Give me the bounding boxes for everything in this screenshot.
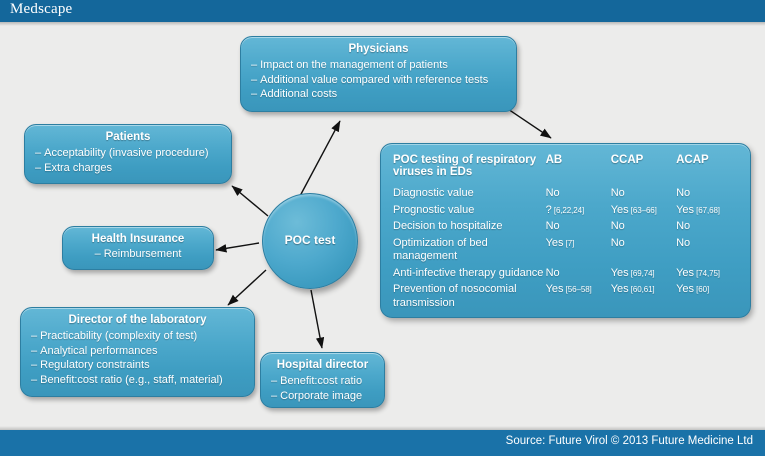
list-item: –Reimbursement <box>73 247 203 262</box>
table-cell-reference: [74,75] <box>694 269 720 278</box>
table-cell-value: Yes <box>676 283 694 295</box>
arrow-poc-to-patients <box>232 186 268 216</box>
poc-testing-table: POC testing of respiratory viruses in ED… <box>393 154 738 313</box>
list-item: –Analytical performances <box>31 344 244 359</box>
list-item: –Corporate image <box>271 389 374 404</box>
table-cell-reference: [67,68] <box>694 206 720 215</box>
table-cell: No <box>546 267 611 284</box>
table-row-label: Anti-infective therapy guidance <box>393 267 546 284</box>
source-footer-bar: Source: Future Virol © 2013 Future Medic… <box>0 430 765 456</box>
poc-testing-table-panel: POC testing of respiratory viruses in ED… <box>380 143 751 318</box>
list-item-text: Impact on the management of patients <box>260 59 448 71</box>
table-column-header-ab: AB <box>546 154 611 187</box>
table-row: Diagnostic valueNoNoNo <box>393 187 738 204</box>
table-row-label: Decision to hospitalize <box>393 220 546 237</box>
table-cell-value: No <box>676 237 690 249</box>
table-cell: Yes [69,74] <box>611 267 676 284</box>
list-item-text: Analytical performances <box>40 345 157 357</box>
node-poc-test[interactable]: POC test <box>262 193 358 289</box>
table-cell-value: Yes <box>611 204 629 216</box>
list-item: –Impact on the management of patients <box>251 58 506 73</box>
arrow-poc-to-physicians <box>300 121 340 196</box>
table-cell: No <box>676 220 738 237</box>
table-cell: Yes [60] <box>676 283 738 313</box>
table-row-label: Prognostic value <box>393 204 546 221</box>
table-row: Anti-infective therapy guidanceNoYes [69… <box>393 267 738 284</box>
node-health-insurance-list: –Reimbursement <box>73 247 203 262</box>
table-row: Decision to hospitalizeNoNoNo <box>393 220 738 237</box>
node-physicians[interactable]: Physicians –Impact on the management of … <box>240 36 517 112</box>
node-health-insurance-title: Health Insurance <box>73 233 203 245</box>
table-column-header-acap: ACAP <box>676 154 738 187</box>
list-item-text: Extra charges <box>44 162 112 174</box>
table-cell-value: No <box>611 187 625 199</box>
table-cell-value: No <box>546 267 560 279</box>
list-item-text: Additional value compared with reference… <box>260 74 488 86</box>
node-physicians-title: Physicians <box>251 43 506 55</box>
table-cell-reference: [63–66] <box>629 206 657 215</box>
arrow-poc-to-laboratory <box>228 270 266 305</box>
table-header-row: POC testing of respiratory viruses in ED… <box>393 154 738 187</box>
table-cell-reference: [56–58] <box>564 285 592 294</box>
node-physicians-list: –Impact on the management of patients –A… <box>251 58 506 102</box>
list-item-text: Benefit:cost ratio (e.g., staff, materia… <box>40 374 223 386</box>
table-cell-reference: [6,22,24] <box>552 206 584 215</box>
node-laboratory-director[interactable]: Director of the laboratory –Practicabili… <box>20 307 255 397</box>
table-row: Prevention of nosocomial transmissionYes… <box>393 283 738 313</box>
list-item-text: Regulatory constraints <box>40 359 149 371</box>
table-cell: Yes [63–66] <box>611 204 676 221</box>
node-hospital-director-title: Hospital director <box>271 359 374 371</box>
node-laboratory-director-list: –Practicability (complexity of test) –An… <box>31 329 244 387</box>
table-cell: Yes [56–58] <box>546 283 611 313</box>
list-item-text: Additional costs <box>260 88 337 100</box>
node-poc-test-label: POC test <box>263 233 357 247</box>
list-item: –Practicability (complexity of test) <box>31 329 244 344</box>
list-item: –Benefit:cost ratio <box>271 374 374 389</box>
table-row-label: Diagnostic value <box>393 187 546 204</box>
table-row: Optimization of bed managementYes [7]NoN… <box>393 237 738 267</box>
table-cell: No <box>676 237 738 267</box>
header-shadow <box>0 22 765 26</box>
arrow-poc-to-insurance <box>216 243 259 250</box>
table-cell: No <box>611 237 676 267</box>
node-patients-list: –Acceptability (invasive procedure) –Ext… <box>35 146 221 175</box>
table-cell: Yes [67,68] <box>676 204 738 221</box>
list-item: –Acceptability (invasive procedure) <box>35 146 221 161</box>
list-item: –Benefit:cost ratio (e.g., staff, materi… <box>31 373 244 388</box>
table-cell-value: No <box>546 220 560 232</box>
table-cell-value: No <box>611 220 625 232</box>
table-head: POC testing of respiratory viruses in ED… <box>393 154 738 187</box>
list-item: –Regulatory constraints <box>31 358 244 373</box>
table-cell-reference: [7] <box>564 239 575 248</box>
node-patients[interactable]: Patients –Acceptability (invasive proced… <box>24 124 232 184</box>
table-row-label: Prevention of nosocomial transmission <box>393 283 546 313</box>
list-item-text: Benefit:cost ratio <box>280 375 362 387</box>
table-cell-value: Yes <box>611 283 629 295</box>
table-cell: No <box>676 187 738 204</box>
table-row: Prognostic value? [6,22,24]Yes [63–66]Ye… <box>393 204 738 221</box>
table-cell: ? [6,22,24] <box>546 204 611 221</box>
table-cell-value: No <box>611 237 625 249</box>
table-cell-reference: [69,74] <box>629 269 655 278</box>
table-body: Diagnostic valueNoNoNoPrognostic value? … <box>393 187 738 313</box>
table-cell: Yes [7] <box>546 237 611 267</box>
list-item: –Additional value compared with referenc… <box>251 73 506 88</box>
list-item-text: Reimbursement <box>104 248 182 260</box>
node-hospital-director-list: –Benefit:cost ratio –Corporate image <box>271 374 374 403</box>
table-cell-reference: [60] <box>694 285 709 294</box>
table-cell-value: No <box>676 187 690 199</box>
table-cell: No <box>546 187 611 204</box>
medscape-logo: Medscape <box>10 1 72 18</box>
diagram-canvas: Medscape Physicians –Impact on the manag… <box>0 0 765 456</box>
table-cell: No <box>546 220 611 237</box>
table-cell-value: No <box>546 187 560 199</box>
table-cell-value: Yes <box>611 267 629 279</box>
table-corner-header: POC testing of respiratory viruses in ED… <box>393 154 546 187</box>
table-cell-value: Yes <box>676 267 694 279</box>
node-health-insurance[interactable]: Health Insurance –Reimbursement <box>62 226 214 270</box>
node-hospital-director[interactable]: Hospital director –Benefit:cost ratio –C… <box>260 352 385 408</box>
medscape-header-bar: Medscape <box>0 0 765 22</box>
table-cell-value: Yes <box>546 283 564 295</box>
table-cell: No <box>611 220 676 237</box>
table-cell-value: No <box>676 220 690 232</box>
list-item: –Extra charges <box>35 161 221 176</box>
table-cell-value: Yes <box>546 237 564 249</box>
list-item-text: Practicability (complexity of test) <box>40 330 197 342</box>
table-cell-reference: [60,61] <box>629 285 655 294</box>
table-cell-value: Yes <box>676 204 694 216</box>
list-item-text: Acceptability (invasive procedure) <box>44 147 208 159</box>
arrow-poc-to-hospital <box>311 290 322 348</box>
node-laboratory-director-title: Director of the laboratory <box>31 314 244 326</box>
list-item-text: Corporate image <box>280 390 362 402</box>
table-column-header-ccap: CCAP <box>611 154 676 187</box>
table-cell: No <box>611 187 676 204</box>
source-credit: Source: Future Virol © 2013 Future Medic… <box>506 435 753 447</box>
table-row-label: Optimization of bed management <box>393 237 546 267</box>
table-cell: Yes [60,61] <box>611 283 676 313</box>
node-patients-title: Patients <box>35 131 221 143</box>
table-cell: Yes [74,75] <box>676 267 738 284</box>
list-item: –Additional costs <box>251 87 506 102</box>
